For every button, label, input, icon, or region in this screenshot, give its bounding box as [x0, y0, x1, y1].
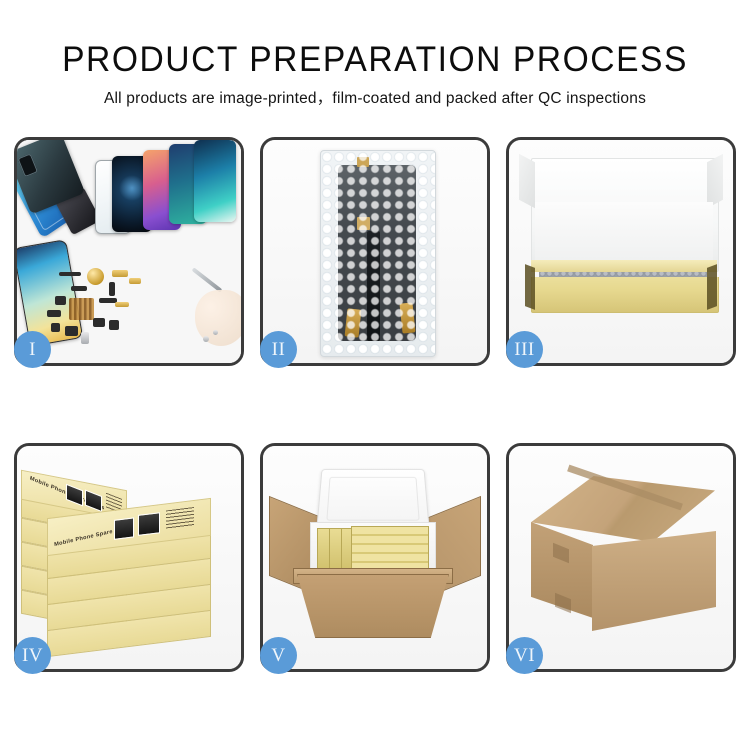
spare-part: [112, 270, 128, 277]
box-side-right: [707, 264, 717, 310]
step-panel-2: II: [260, 137, 490, 366]
header: PRODUCT PREPARATION PROCESS All products…: [0, 0, 750, 109]
step-image-1: [17, 140, 241, 363]
step-image-4: Mobile Phone Spare Parts Mobile Phone Sp…: [17, 446, 241, 669]
tape-piece: [345, 308, 362, 337]
screw-part: [203, 336, 209, 342]
step-image-3: [509, 140, 733, 363]
step-panel-4: Mobile Phone Spare Parts Mobile Phone Sp…: [14, 443, 244, 672]
carton-body: [297, 574, 449, 638]
infographic-page: PRODUCT PREPARATION PROCESS All products…: [0, 0, 750, 750]
box-lid-flap-left: [519, 154, 535, 209]
spare-part: [115, 302, 129, 307]
box-lip: [531, 260, 717, 272]
spare-part: [109, 320, 119, 330]
spare-part: [65, 326, 78, 336]
process-steps-grid: I II: [14, 137, 736, 672]
step-badge-2: II: [260, 331, 297, 368]
tape-piece: [357, 157, 369, 167]
step-panel-1: I: [14, 137, 244, 366]
step-image-6: [509, 446, 733, 669]
spare-part: [81, 332, 89, 344]
page-title: PRODUCT PREPARATION PROCESS: [15, 40, 735, 80]
spare-part: [51, 323, 60, 332]
phone-screen-green: [194, 140, 236, 222]
box-print-screen: [66, 484, 83, 507]
spare-part: [129, 278, 141, 284]
screw-part: [213, 330, 218, 335]
page-subtitle: All products are image-printed，film-coat…: [0, 89, 750, 109]
step-panel-5: V: [260, 443, 490, 672]
box-lid-flap-right: [707, 154, 723, 209]
step-badge-6: VI: [506, 637, 543, 674]
step-badge-5: V: [260, 637, 297, 674]
step-badge-1: I: [14, 331, 51, 368]
foam-box-lid: [316, 469, 430, 530]
box-print-screen: [114, 517, 134, 539]
step-image-5: [263, 446, 487, 669]
step-image-2: [263, 140, 487, 363]
spare-part: [93, 318, 105, 327]
carton-right-face: [592, 531, 716, 631]
step-panel-6: VI: [506, 443, 736, 672]
chip-board-part: [69, 298, 94, 320]
tape-piece: [357, 217, 370, 230]
spare-part: [59, 272, 81, 276]
step-panel-3: III: [506, 137, 736, 366]
box-print-lines: [166, 507, 194, 530]
technician-hand: [195, 290, 241, 346]
flex-cable: [367, 231, 380, 341]
box-side-left: [525, 264, 535, 310]
box-print-screen: [138, 512, 160, 536]
spare-part: [71, 286, 87, 291]
box-print-screen: [85, 489, 102, 512]
retail-box-stack: Mobile Phone Spare Parts Mobile Phone Sp…: [17, 446, 241, 669]
step-badge-3: III: [506, 331, 543, 368]
bubble-wrap-bag: [320, 150, 436, 357]
spare-part: [47, 310, 61, 317]
spare-part: [109, 282, 115, 296]
vibration-motor-part: [87, 268, 104, 285]
spare-part: [55, 296, 66, 305]
step-badge-4: IV: [14, 637, 51, 674]
